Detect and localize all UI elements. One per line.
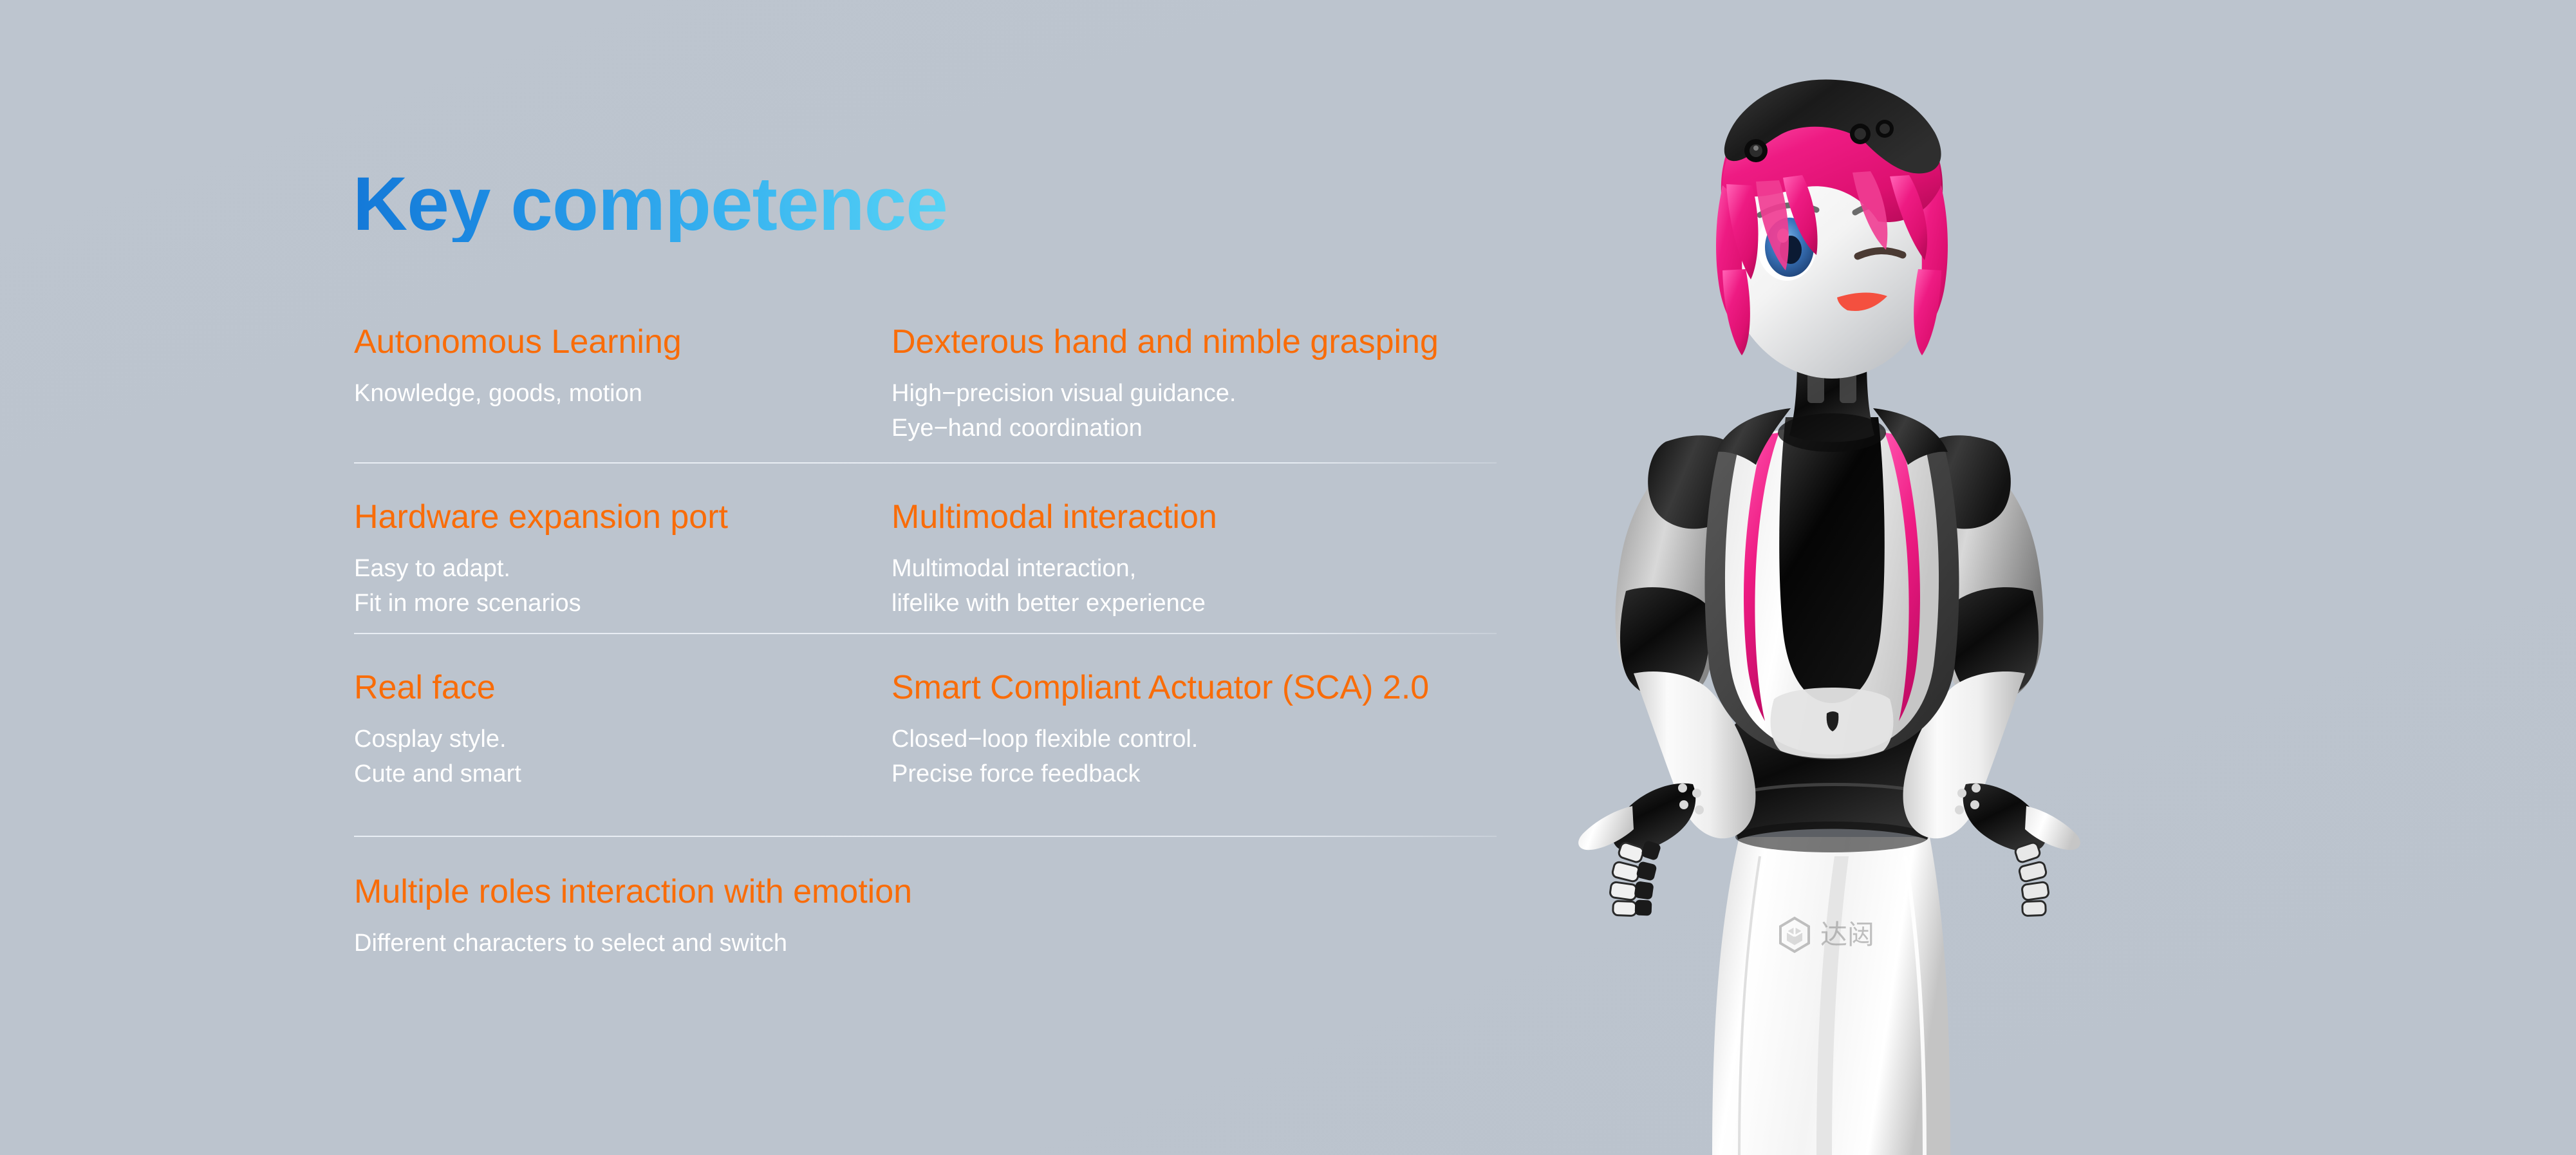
robot-headband: [1724, 80, 1941, 174]
feature-body: High−precision visual guidance. Eye−hand…: [891, 377, 1497, 446]
feature-row: Autonomous Learning Knowledge, goods, mo…: [354, 303, 1497, 462]
robot-neck: [1778, 358, 1886, 452]
robot-hand-right: [1955, 784, 2080, 916]
feature-body: Knowledge, goods, motion: [354, 377, 879, 411]
robot-arm-right: [1903, 435, 2080, 916]
robot-hand-left: [1578, 784, 1704, 916]
feature-cell-smart-compliant-actuator: Smart Compliant Actuator (SCA) 2.0 Close…: [891, 633, 1497, 836]
feature-cell-autonomous-learning: Autonomous Learning Knowledge, goods, mo…: [354, 303, 891, 462]
chest-logo: 达闼: [1780, 918, 1874, 952]
cube-hexagon-icon: [1780, 918, 1809, 952]
slide-canvas: Key competence Autonomous Learning Knowl…: [0, 0, 2576, 1155]
feature-row: Multiple roles interaction with emotion …: [354, 836, 1497, 964]
feature-title: Real face: [354, 670, 879, 706]
feature-body: Multimodal interaction, lifelike with be…: [891, 552, 1497, 621]
robot-lower-body: [1712, 837, 1950, 1155]
feature-body: Closed−loop flexible control. Precise fo…: [891, 722, 1497, 792]
robot-eye-winking: [1855, 203, 1908, 256]
feature-cell-multimodal-interaction: Multimodal interaction Multimodal intera…: [891, 462, 1497, 633]
feature-title: Smart Compliant Actuator (SCA) 2.0: [891, 670, 1497, 706]
feature-cell-hardware-expansion-port: Hardware expansion port Easy to adapt. F…: [354, 462, 891, 633]
feature-row: Real face Cosplay style. Cute and smart …: [354, 633, 1497, 836]
feature-title: Multimodal interaction: [891, 500, 1497, 535]
robot-arm-left: [1578, 435, 1755, 916]
robot-head: [1716, 80, 1948, 379]
robot-hip: [1726, 697, 1939, 852]
chest-logo-text: 达闼: [1820, 919, 1874, 950]
feature-cell-multiple-roles-interaction: Multiple roles interaction with emotion …: [354, 836, 1497, 964]
page-title: Key competence: [353, 166, 947, 242]
feature-title: Dexterous hand and nimble grasping: [891, 324, 1497, 360]
feature-body: Easy to adapt. Fit in more scenarios: [354, 552, 879, 621]
robot-torso: [1704, 408, 1959, 760]
feature-title: Autonomous Learning: [354, 324, 879, 360]
feature-title: Hardware expansion port: [354, 500, 879, 535]
feature-cell-real-face: Real face Cosplay style. Cute and smart: [354, 633, 891, 836]
feature-row: Hardware expansion port Easy to adapt. F…: [354, 462, 1497, 633]
robot-illustration: 达闼: [1500, 0, 2143, 1155]
feature-body: Different characters to select and switc…: [354, 926, 1497, 961]
feature-title: Multiple roles interaction with emotion: [354, 874, 1497, 910]
robot-eye-open: [1757, 205, 1816, 281]
feature-body: Cosplay style. Cute and smart: [354, 722, 879, 792]
feature-grid: Autonomous Learning Knowledge, goods, mo…: [354, 303, 1497, 964]
feature-cell-dexterous-hand: Dexterous hand and nimble grasping High−…: [891, 303, 1497, 462]
